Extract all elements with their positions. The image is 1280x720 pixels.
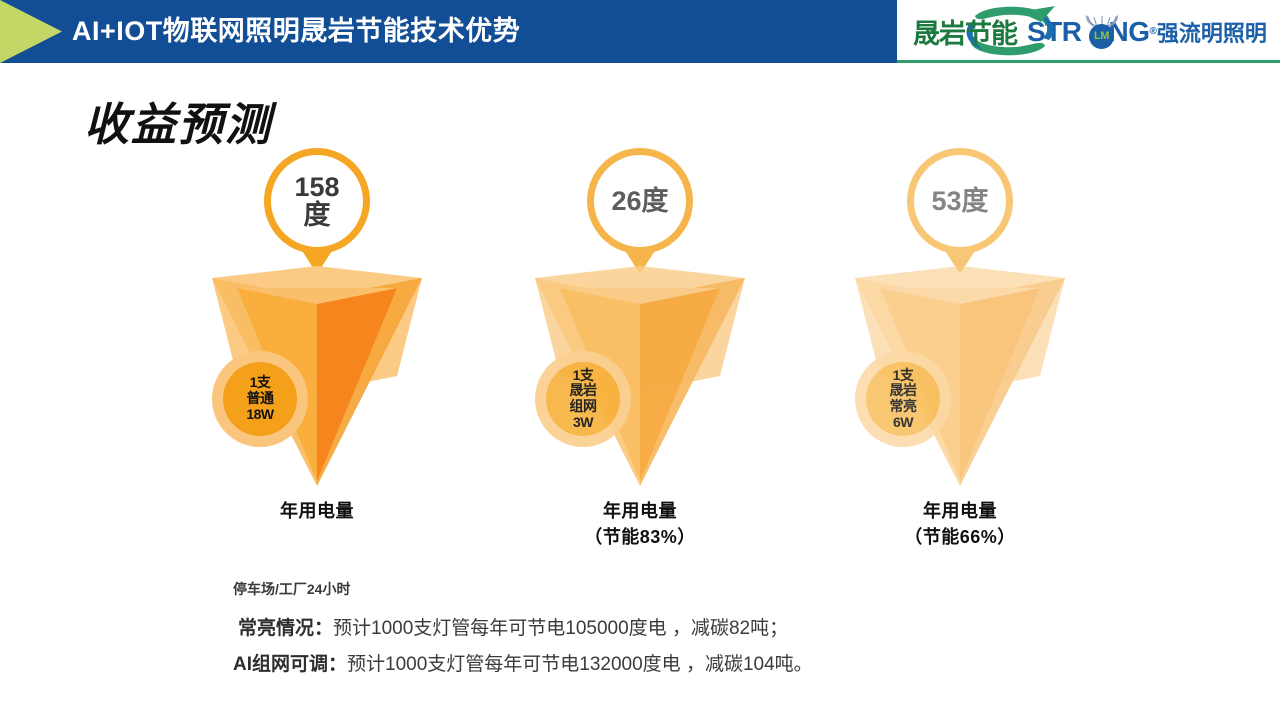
caption-3: 年用电量 （节能66%） <box>830 498 1090 550</box>
badge-3-line-3: 6W <box>890 415 917 431</box>
badge-1-line-0: 1支 <box>246 375 273 391</box>
footnote-row-2-lead: AI组网可调： <box>233 654 347 675</box>
caption-3-line2: （节能66%） <box>830 524 1090 550</box>
pin-label-2-line1: 26度 <box>611 187 668 215</box>
badge-2-line-1: 晟岩 <box>570 383 597 399</box>
footnote-condition: 停车场/工厂24小时 <box>233 579 1133 599</box>
pin-marker-3: 53度 <box>907 148 1013 254</box>
badge-2: 1支 晟岩 组网 3W <box>535 351 631 447</box>
badge-inner-circle-2: 1支 晟岩 组网 3W <box>546 362 620 436</box>
footnote-block: 停车场/工厂24小时 常亮情况：预计1000支灯管每年可节电105000度电 ，… <box>233 579 1133 685</box>
pin-label-1: 158 度 <box>294 173 339 230</box>
caption-2: 年用电量 （节能83%） <box>510 498 770 550</box>
slide-root: AI+IOT物联网照明晟岩节能技术优势 晟岩节能 STR LM NG ® 强流明… <box>0 0 1280 720</box>
badge-2-line-0: 1支 <box>570 368 597 384</box>
badge-inner-circle-3: 1支 晟岩 常亮 6W <box>866 362 940 436</box>
chevron-right-icon <box>0 0 62 63</box>
pin-label-1-line1: 158 <box>294 173 339 201</box>
footnote-row-1-lead: 常亮情况： <box>238 618 333 639</box>
logo-brand-cn: 强流明照明 <box>1157 16 1267 48</box>
caption-2-line2: （节能83%） <box>510 524 770 550</box>
caption-1-line1: 年用电量 <box>187 498 447 524</box>
pin-label-1-line2: 度 <box>294 201 339 229</box>
funnel-group-1: 158 度 1支 普通 18W <box>187 0 447 560</box>
badge-outer-ring-2: 1支 晟岩 组网 3W <box>535 351 631 447</box>
pin-circle-3: 53度 <box>907 148 1013 254</box>
badge-2-line-2: 组网 <box>570 399 597 415</box>
logo-lm-badge: LM <box>1089 24 1114 49</box>
pin-marker-1: 158 度 <box>264 148 370 254</box>
pin-label-3: 53度 <box>931 187 988 215</box>
funnel-group-2: 26度 1支 晟岩 组网 3W <box>510 0 770 560</box>
badge-1-line-2: 18W <box>246 407 273 423</box>
caption-2-line1: 年用电量 <box>510 498 770 524</box>
badge-text-1: 1支 普通 18W <box>246 375 273 422</box>
pin-circle-2: 26度 <box>587 148 693 254</box>
badge-3-line-1: 晟岩 <box>890 383 917 399</box>
badge-3-line-2: 常亮 <box>890 399 917 415</box>
badge-text-2: 1支 晟岩 组网 3W <box>570 368 597 431</box>
badge-outer-ring-3: 1支 晟岩 常亮 6W <box>855 351 951 447</box>
badge-3: 1支 晟岩 常亮 6W <box>855 351 951 447</box>
badge-1-line-1: 普通 <box>246 391 273 407</box>
badge-text-3: 1支 晟岩 常亮 6W <box>890 368 917 431</box>
logo-company-name: 晟岩节能 <box>913 12 1017 51</box>
registered-mark-icon: ® <box>1150 26 1157 37</box>
badge-3-line-0: 1支 <box>890 368 917 384</box>
pin-label-3-line1: 53度 <box>931 187 988 215</box>
badge-1: 1支 普通 18W <box>212 351 308 447</box>
pin-circle-1: 158 度 <box>264 148 370 254</box>
badge-2-line-3: 3W <box>570 415 597 431</box>
badge-outer-ring-1: 1支 普通 18W <box>212 351 308 447</box>
funnel-group-3: 53度 1支 晟岩 常亮 6W <box>830 0 1090 560</box>
pin-marker-2: 26度 <box>587 148 693 254</box>
caption-1: 年用电量 <box>187 498 447 524</box>
footnote-row-1-text: 预计1000支灯管每年可节电105000度电 ，减碳82吨； <box>333 618 788 639</box>
footnote-row-1: 常亮情况：预计1000支灯管每年可节电105000度电 ，减碳82吨； <box>233 613 1133 640</box>
pin-label-2: 26度 <box>611 187 668 215</box>
footnote-row-2: AI组网可调：预计1000支灯管每年可节电132000度电 ，减碳104吨。 <box>233 649 1133 676</box>
badge-inner-circle-1: 1支 普通 18W <box>223 362 297 436</box>
caption-3-line1: 年用电量 <box>830 498 1090 524</box>
footnote-row-2-text: 预计1000支灯管每年可节电132000度电 ，减碳104吨。 <box>347 654 813 675</box>
